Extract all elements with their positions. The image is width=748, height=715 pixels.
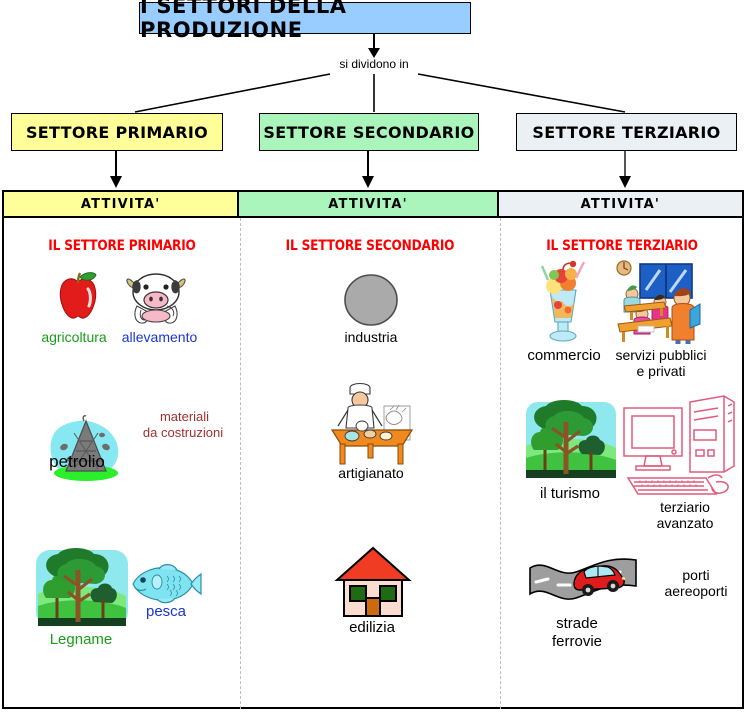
table-header-row: ATTIVITA' ATTIVITA' ATTIVITA'	[4, 192, 742, 218]
label-turismo: il turismo	[512, 486, 628, 503]
label-strade-line1: strade	[522, 616, 632, 633]
house-icon	[335, 546, 411, 618]
tree-landscape-icon	[524, 400, 618, 484]
label-strade-line2: ferrovie	[522, 634, 632, 651]
oil-derrick-icon	[44, 413, 128, 485]
sector-box-terziario[interactable]: SETTORE TERZIARIO	[516, 113, 737, 151]
label-porti-line2: aereoporti	[642, 584, 748, 600]
label-pesca: pesca	[126, 604, 206, 621]
label-terziario-line2: avanzato	[630, 516, 740, 532]
apple-icon	[49, 268, 107, 326]
label-legname: Legname	[26, 632, 136, 649]
gray-circle-icon	[343, 274, 399, 326]
craftsman-icon	[326, 380, 418, 466]
classroom-icon	[604, 258, 702, 344]
sector-box-secondario[interactable]: SETTORE SECONDARIO	[259, 113, 479, 151]
column-title-secondario: IL SETTORE SECONDARIO	[249, 238, 491, 254]
column-title-terziario: IL SETTORE TERZIARIO	[509, 238, 736, 254]
computer-icon	[620, 394, 738, 500]
label-servizi-line2: e privati	[600, 364, 722, 380]
label-allevamento: allevamento	[102, 330, 217, 346]
page-title: I SETTORI DELLA PRODUZIONE	[139, 2, 471, 34]
column-secondario: IL SETTORE SECONDARIO industria	[240, 218, 500, 709]
sector-box-primario[interactable]: SETTORE PRIMARIO	[11, 113, 223, 151]
label-porti-line1: porti	[650, 568, 742, 584]
diagram-canvas: I SETTORI DELLA PRODUZIONE si dividono i…	[0, 0, 748, 715]
header-attivita-primario: ATTIVITA'	[4, 192, 239, 218]
forest-icon	[34, 546, 130, 630]
label-servizi-line1: servizi pubblici	[596, 348, 726, 364]
label-industria: industria	[315, 330, 427, 346]
label-edilizia: edilizia	[312, 620, 432, 637]
label-terziario-line1: terziario	[630, 500, 740, 516]
header-attivita-secondario: ATTIVITA'	[239, 192, 498, 218]
activities-table: ATTIVITA' ATTIVITA' ATTIVITA' IL SETTORE…	[2, 190, 744, 709]
ice-cream-sundae-icon	[536, 260, 590, 344]
column-primario: IL SETTORE PRIMARIO	[4, 218, 240, 709]
cow-icon	[121, 266, 193, 328]
label-materiali-line1: materiali	[132, 410, 237, 425]
header-attivita-terziario: ATTIVITA'	[499, 192, 742, 218]
road-car-icon	[528, 552, 640, 612]
column-terziario: IL SETTORE TERZIARIO	[500, 218, 744, 709]
connector-label: si dividono in	[310, 57, 438, 71]
label-petrolio: petrolio	[21, 452, 133, 471]
label-materiali-line2: da costruzioni	[124, 426, 242, 441]
label-artigianato: artigianato	[306, 466, 436, 482]
column-title-primario: IL SETTORE PRIMARIO	[12, 238, 231, 254]
fish-icon	[129, 560, 203, 606]
